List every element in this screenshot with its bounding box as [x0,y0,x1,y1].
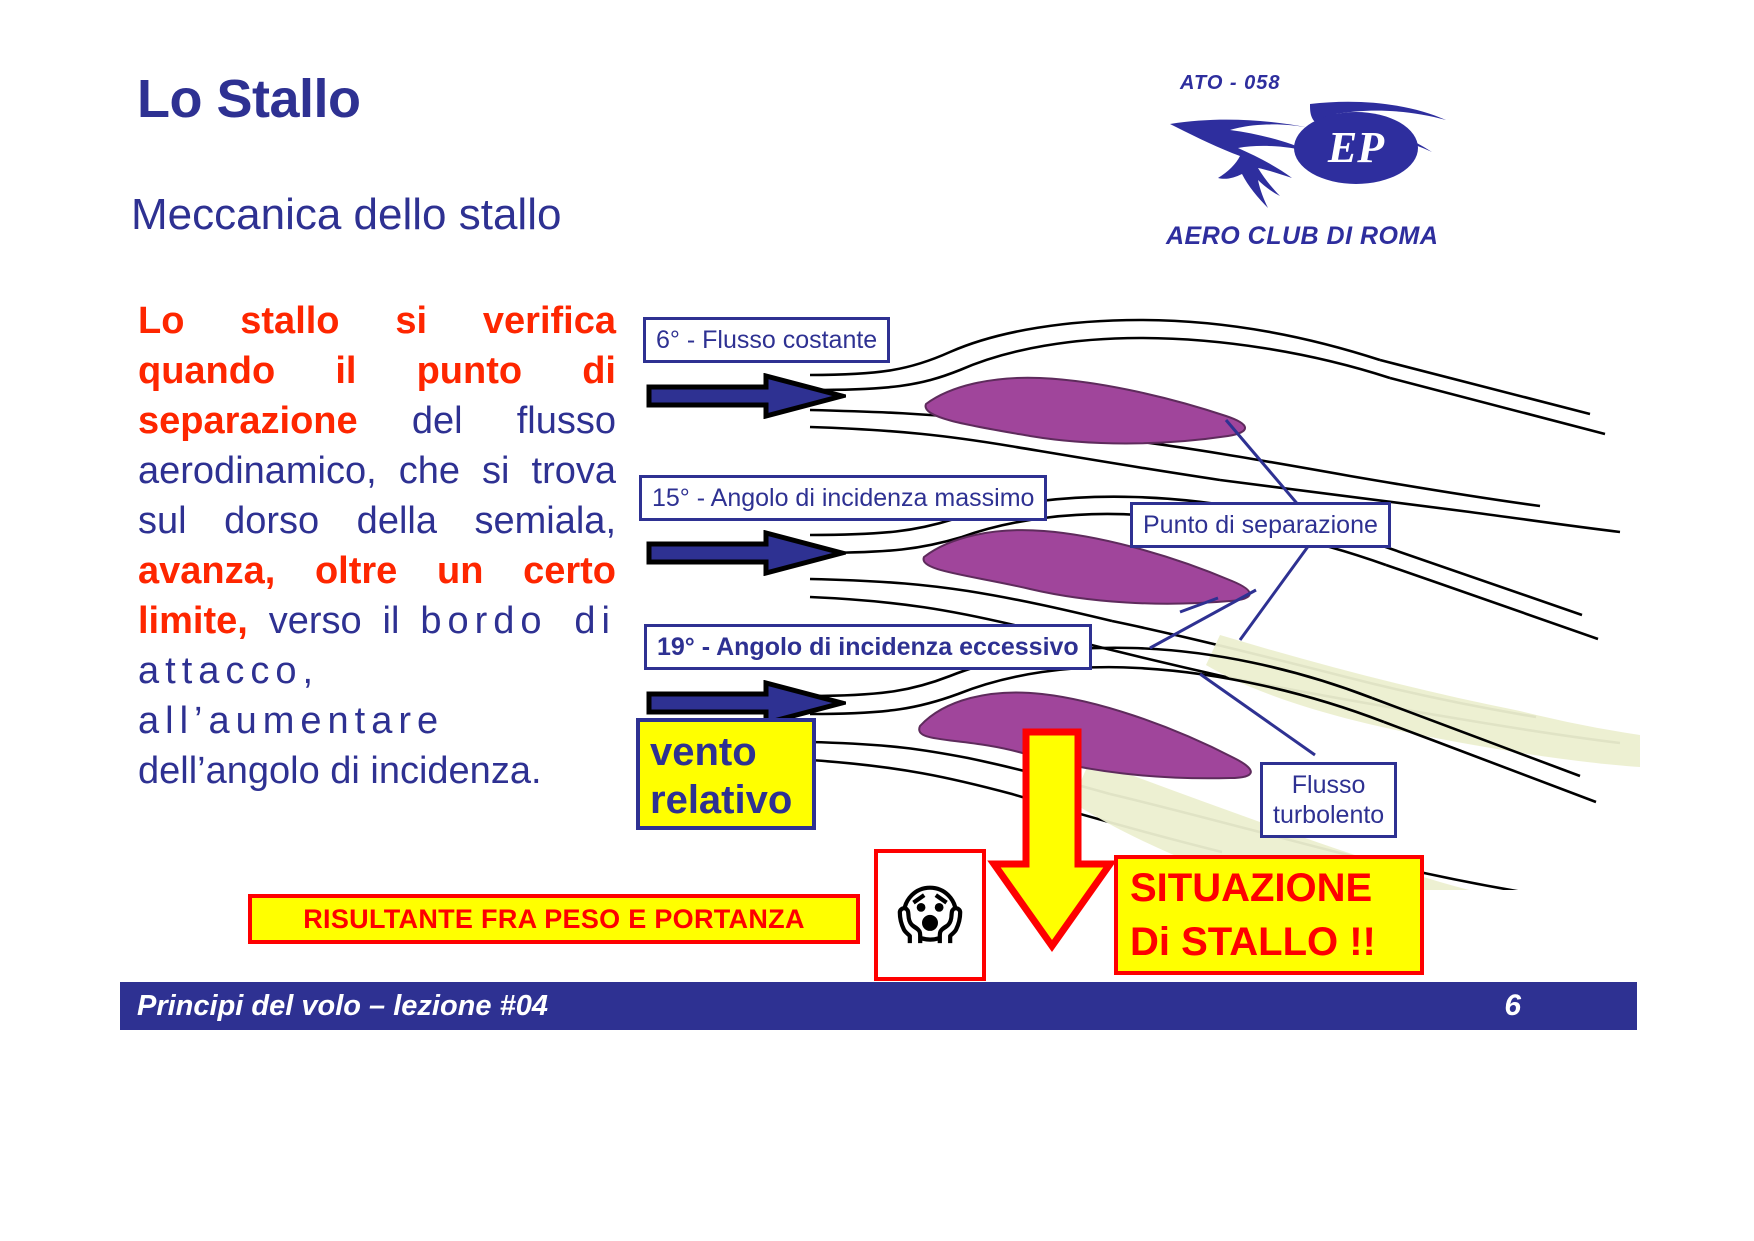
label-flusso-turbolento: Flusso turbolento [1260,762,1397,838]
eagle-icon: EP [1160,94,1450,224]
vento-relativo-box: vento relativo [636,718,816,830]
risultante-banner: RISULTANTE FRA PESO E PORTANZA [248,894,860,944]
footer-bar: Principi del volo – lezione #04 6 [120,982,1637,1030]
footer-text: Principi del volo – lezione #04 [137,990,548,1023]
paragraph-seg-6: dell’angolo di incidenza. [138,750,542,792]
slide: Lo Stallo Meccanica dello stallo ATO - 0… [0,0,1754,1241]
label-19deg: 19° - Angolo di incidenza eccessivo [644,624,1092,670]
stallo-line2: Di STALLO !! [1130,915,1420,969]
page-number: 6 [1504,989,1521,1023]
relative-wind-arrow-1 [646,373,846,419]
flusso-turbolento-line1: Flusso [1292,771,1366,799]
aero-club-logo: ATO - 058 EP AERO CLUB DI ROMA [1150,72,1450,257]
vento-line1: vento [650,728,802,776]
scream-emoji-icon: 😱 [874,849,986,981]
vento-line2: relativo [650,776,802,824]
logo-ato-code: ATO - 058 [1180,72,1281,95]
label-punto-separazione: Punto di separazione [1130,502,1391,548]
situazione-stallo-box: SITUAZIONE Di STALLO !! [1114,855,1424,975]
stallo-line1: SITUAZIONE [1130,861,1420,915]
paragraph-seg-4: verso il [248,600,421,642]
logo-club-name: AERO CLUB DI ROMA [1166,222,1438,251]
label-15deg: 15° - Angolo di incidenza massimo [639,475,1047,521]
body-paragraph: Lo stallo si verifica quando il punto di… [138,296,616,796]
relative-wind-arrow-2 [646,530,846,576]
stall-down-arrow-icon [986,724,1118,956]
svg-text:EP: EP [1327,123,1385,172]
page-subtitle: Meccanica dello stallo [131,190,561,240]
flusso-turbolento-line2: turbolento [1273,801,1384,829]
page-title: Lo Stallo [137,68,361,130]
label-6deg: 6° - Flusso costante [643,317,890,363]
